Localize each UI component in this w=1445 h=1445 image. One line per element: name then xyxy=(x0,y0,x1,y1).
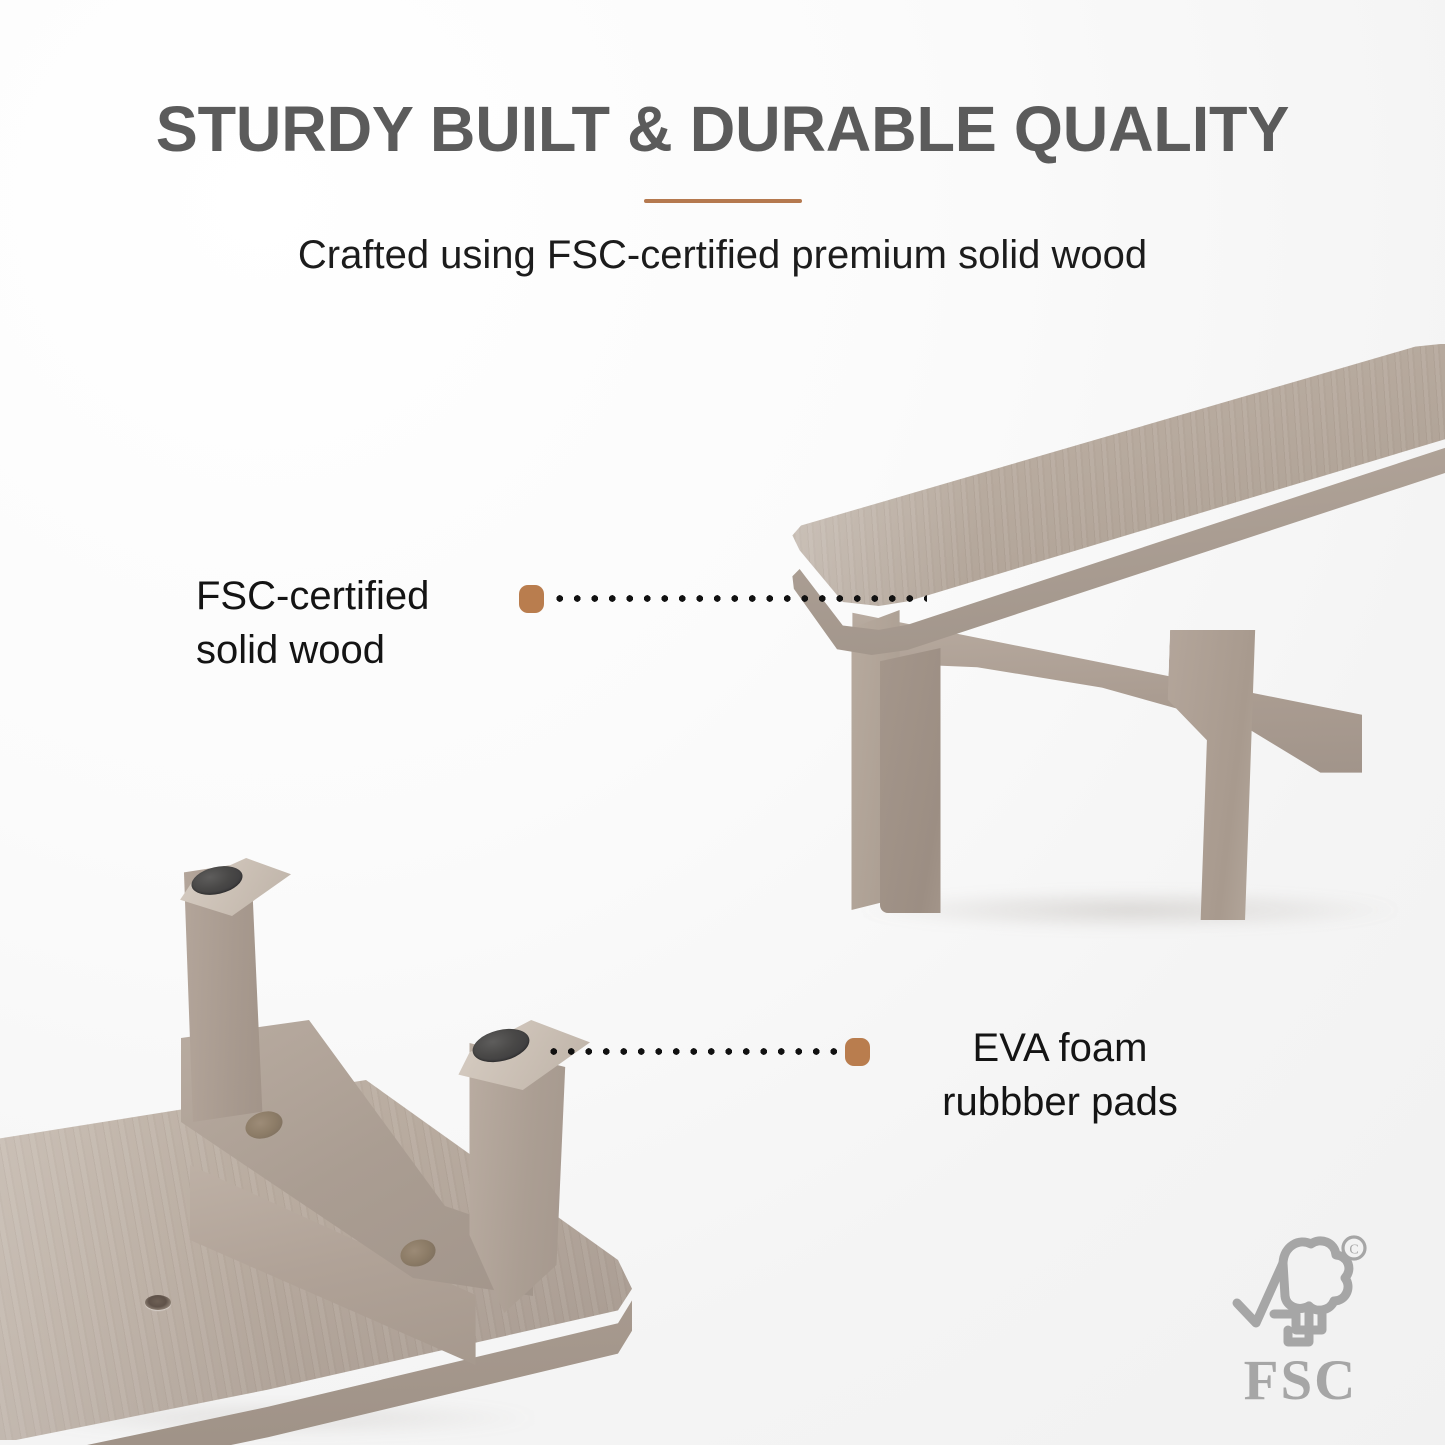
page-subtitle: Crafted using FSC-certified premium soli… xyxy=(0,231,1445,279)
header-block: STURDY BUILT & DURABLE QUALITY Crafted u… xyxy=(0,0,1445,279)
product-image-underside xyxy=(0,840,680,1445)
fsc-logo: C FSC xyxy=(1208,1230,1393,1409)
svg-text:C: C xyxy=(1349,1243,1358,1258)
callout-marker-eva-foam-pads xyxy=(845,1038,870,1066)
riser-leg-near-inner xyxy=(880,648,990,913)
callout-leader-fsc-solid-wood xyxy=(551,594,927,603)
infographic-canvas: STURDY BUILT & DURABLE QUALITY Crafted u… xyxy=(0,0,1445,1445)
callout-label-eva-foam-pads: EVA foam rubbber pads xyxy=(900,1022,1220,1129)
callout-marker-fsc-solid-wood xyxy=(519,585,544,613)
page-title: STURDY BUILT & DURABLE QUALITY xyxy=(11,96,1434,163)
copyright-icon: C xyxy=(1343,1237,1365,1259)
title-divider xyxy=(644,199,802,203)
callout-leader-eva-foam-pads xyxy=(545,1047,845,1056)
product-image-riser xyxy=(770,330,1445,950)
fsc-tree-checkmark-icon: C xyxy=(1226,1230,1376,1358)
callout-label-fsc-solid-wood: FSC-certified solid wood xyxy=(196,570,526,677)
screw-hole xyxy=(145,1295,171,1310)
fsc-wordmark: FSC xyxy=(1208,1352,1393,1409)
